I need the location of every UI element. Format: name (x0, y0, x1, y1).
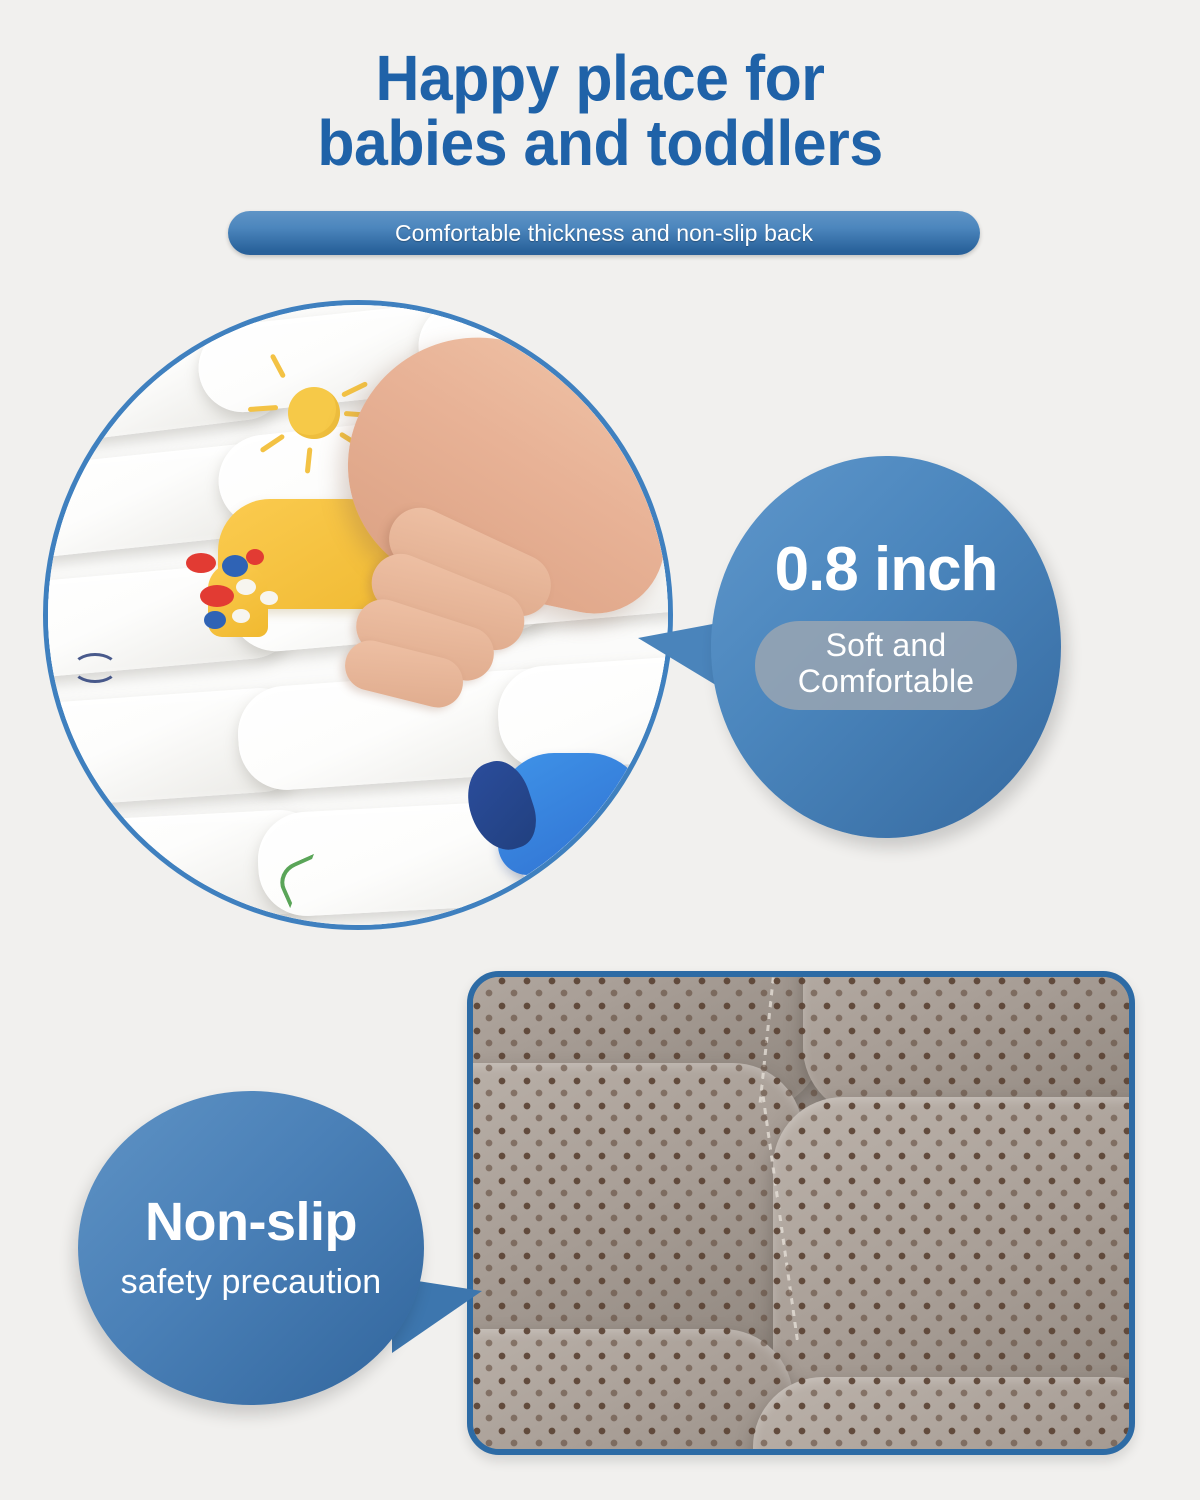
nonslip-subtitle: safety precaution (121, 1265, 382, 1299)
thickness-callout-badge: 0.8 inch Soft and Comfortable (711, 456, 1061, 838)
page-title: Happy place for babies and toddlers (30, 46, 1170, 177)
nonslip-callout-badge: Non-slip safety precaution (78, 1091, 424, 1405)
subtitle-text: Comfortable thickness and non-slip back (395, 220, 813, 247)
soft-pill-line-1: Soft and (755, 628, 1017, 664)
hand-pressing (258, 345, 673, 765)
headline-line-2: babies and toddlers (30, 111, 1170, 176)
anti-slip-fabric-scene (473, 977, 1129, 1449)
mattress-topside-photo (43, 300, 673, 930)
quilted-mattress-scene (48, 305, 668, 925)
scribble-print (72, 653, 118, 683)
subtitle-banner: Comfortable thickness and non-slip back (228, 211, 980, 255)
mattress-backside-photo (467, 971, 1135, 1455)
soft-pill-line-2: Comfortable (755, 664, 1017, 700)
soft-comfortable-pill: Soft and Comfortable (755, 621, 1017, 710)
nonslip-title: Non-slip (145, 1195, 357, 1249)
headline-line-1: Happy place for (30, 46, 1170, 111)
anti-slip-dots-secondary (473, 977, 1129, 1449)
header-section: Happy place for babies and toddlers (0, 0, 1200, 177)
thickness-value: 0.8 inch (775, 539, 998, 601)
